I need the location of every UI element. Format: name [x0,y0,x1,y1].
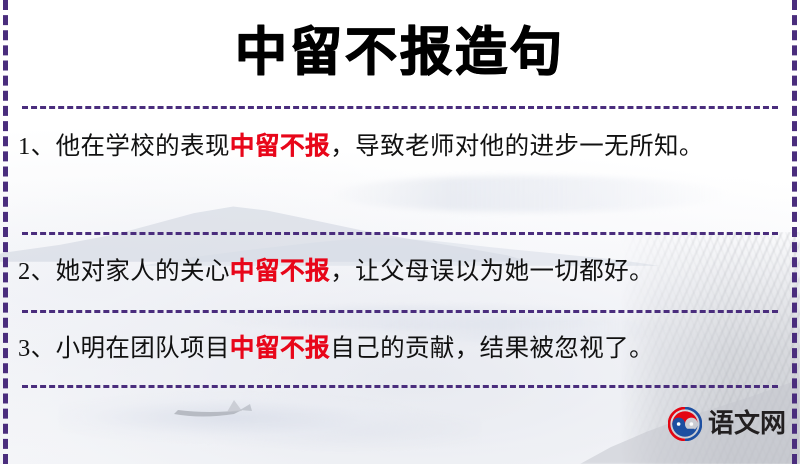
title-band: 中留不报造句 [0,0,800,106]
separator-below-sentence-3 [22,385,778,388]
sentence-2-suffix: ，让父母误以为她一切都好。 [330,258,654,285]
sentence-1-prefix: 他在学校的表现 [56,133,230,160]
sentence-2-number: 2、 [18,258,56,285]
example-sentence-3: 3、小明在团队项目中留不报自己的贡献，结果被忽视了。 [18,326,782,371]
page-title: 中留不报造句 [235,27,565,79]
sentence-example-card: 中留不报造句 1、他在学校的表现中留不报，导致老师对他的进步一无所知。 2、她对… [0,0,800,464]
sentence-1-number: 1、 [18,133,56,160]
example-sentence-1: 1、他在学校的表现中留不报，导致老师对他的进步一无所知。 [18,124,782,169]
separator-below-title [22,106,778,109]
sentence-3-prefix: 小明在团队项目 [56,335,230,362]
sentence-2-prefix: 她对家人的关心 [56,258,230,285]
sentence-3-number: 3、 [18,335,56,362]
boat-silhouette-icon [172,398,272,420]
cloud-band-upper-icon [330,176,730,212]
water-wash-icon [60,392,480,456]
site-logo[interactable]: 语文网 [668,407,786,441]
yinyang-fish-logo-icon [668,407,702,441]
sentence-2-keyword: 中留不报 [230,258,330,285]
frame-border-right [792,0,797,464]
frame-border-left [3,0,8,464]
sentence-1-suffix: ，导致老师对他的进步一无所知。 [330,133,704,160]
sentence-3-suffix: 自己的贡献，结果被忽视了。 [330,335,654,362]
logo-text: 语文网 [708,411,786,437]
sentence-3-keyword: 中留不报 [230,335,330,362]
separator-below-sentence-1 [22,232,778,235]
example-sentence-2: 2、她对家人的关心中留不报，让父母误以为她一切都好。 [18,249,782,294]
sentence-1-keyword: 中留不报 [230,133,330,160]
separator-below-sentence-2 [22,310,778,313]
